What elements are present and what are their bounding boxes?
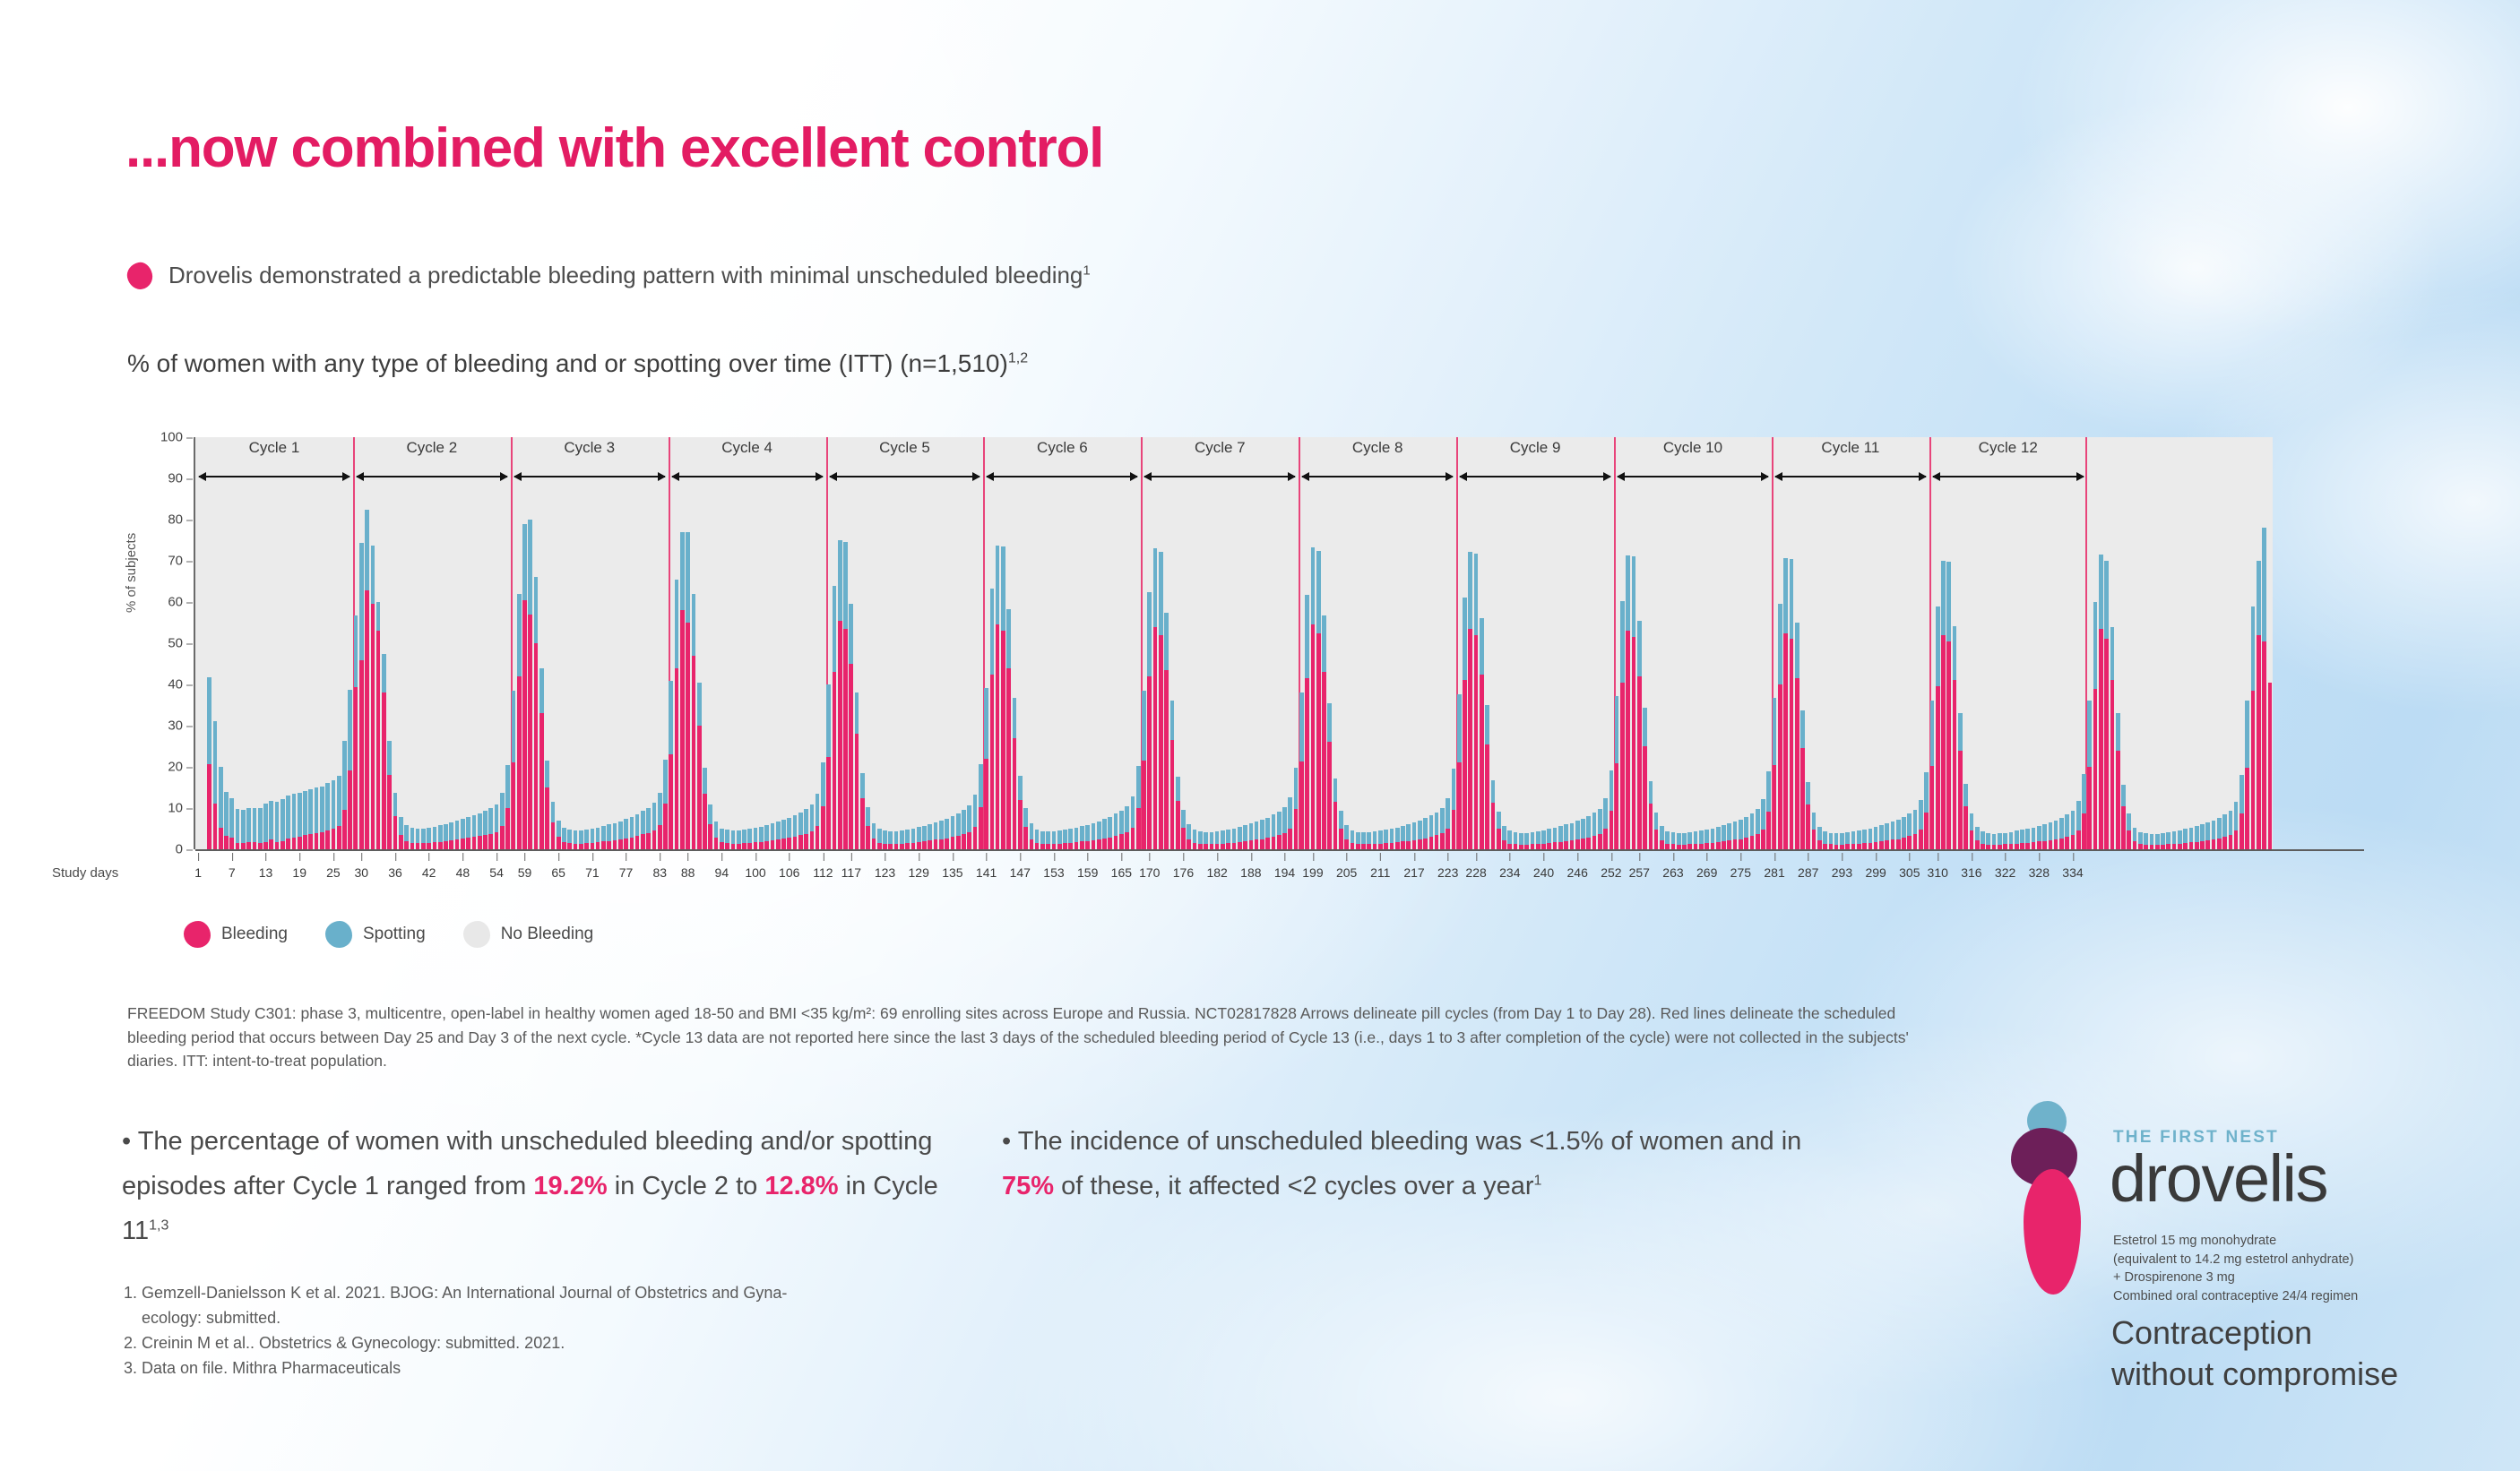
spotting-segment bbox=[495, 804, 499, 831]
table-row bbox=[1677, 437, 1681, 849]
x-tick-252: 252 bbox=[1601, 865, 1621, 880]
spotting-segment bbox=[1773, 698, 1777, 765]
table-row bbox=[1187, 437, 1191, 849]
bleeding-segment bbox=[607, 841, 611, 849]
bullet-blob-icon bbox=[125, 260, 155, 291]
table-row bbox=[1373, 437, 1377, 849]
spotting-segment bbox=[1586, 816, 1591, 838]
spotting-segment bbox=[787, 818, 791, 839]
table-row bbox=[630, 437, 634, 849]
table-row bbox=[1136, 437, 1141, 849]
spotting-segment bbox=[1615, 696, 1619, 763]
spotting-segment bbox=[1902, 817, 1906, 838]
table-row bbox=[584, 437, 589, 849]
spotting-segment bbox=[1812, 813, 1817, 830]
table-row bbox=[292, 437, 297, 849]
bleeding-segment bbox=[427, 843, 431, 849]
table-row bbox=[1514, 437, 1518, 849]
bleeding-segment bbox=[928, 840, 932, 849]
bleeding-segment bbox=[1896, 839, 1901, 850]
spotting-segment bbox=[708, 804, 712, 824]
spotting-segment bbox=[731, 830, 736, 843]
spotting-segment bbox=[427, 828, 431, 843]
bleeding-segment bbox=[747, 843, 752, 849]
table-row bbox=[2222, 437, 2227, 849]
spotting-segment bbox=[1446, 798, 1450, 830]
table-row bbox=[1440, 437, 1445, 849]
table-row bbox=[1102, 437, 1107, 849]
table-row bbox=[934, 437, 938, 849]
bleeding-segment bbox=[1282, 833, 1287, 849]
table-row bbox=[1401, 437, 1405, 849]
spotting-segment bbox=[444, 824, 448, 841]
legend-label: No Bleeding bbox=[501, 925, 594, 944]
bleeding-segment bbox=[1351, 843, 1355, 849]
bleeding-segment bbox=[1164, 670, 1169, 849]
table-row bbox=[1817, 437, 1822, 849]
table-row bbox=[675, 437, 679, 849]
bleeding-segment bbox=[663, 804, 668, 849]
spotting-segment bbox=[1834, 833, 1839, 845]
spotting-segment bbox=[759, 827, 764, 842]
spotting-segment bbox=[1986, 833, 1990, 845]
table-row bbox=[1344, 437, 1349, 849]
table-row bbox=[1981, 437, 1985, 849]
bleeding-segment bbox=[1806, 804, 1810, 849]
table-row bbox=[1924, 437, 1929, 849]
table-row bbox=[951, 437, 955, 849]
table-row bbox=[945, 437, 949, 849]
spotting-segment bbox=[1255, 822, 1259, 839]
table-row bbox=[1575, 437, 1580, 849]
table-row bbox=[1108, 437, 1112, 849]
table-row bbox=[1035, 437, 1040, 849]
table-row bbox=[1756, 437, 1760, 849]
table-row bbox=[990, 437, 995, 849]
table-row bbox=[1474, 437, 1479, 849]
logo-composition-text: Estetrol 15 mg monohydrate(equivalent to… bbox=[2113, 1232, 2358, 1305]
spotting-segment bbox=[455, 821, 460, 839]
spotting-segment bbox=[1485, 705, 1489, 744]
bleeding-segment bbox=[1327, 742, 1332, 849]
table-row bbox=[1868, 437, 1873, 849]
spotting-segment bbox=[551, 802, 556, 822]
logo-composition-line: (equivalent to 14.2 mg estetrol anhydrat… bbox=[2113, 1251, 2358, 1269]
table-row bbox=[2020, 437, 2024, 849]
table-row bbox=[410, 437, 415, 849]
bleeding-segment bbox=[449, 840, 453, 849]
y-tick-50: 50 bbox=[147, 636, 183, 651]
x-tick-88: 88 bbox=[681, 865, 695, 880]
spotting-segment bbox=[557, 821, 561, 837]
table-row bbox=[2234, 437, 2239, 849]
spotting-segment bbox=[2200, 824, 2205, 840]
table-row bbox=[2032, 437, 2036, 849]
spotting-segment bbox=[793, 815, 798, 837]
spotting-segment bbox=[1272, 814, 1276, 836]
y-tick-70: 70 bbox=[147, 554, 183, 569]
bleeding-segment bbox=[1620, 683, 1625, 849]
table-row bbox=[1874, 437, 1878, 849]
spotting-segment bbox=[686, 532, 690, 623]
spotting-segment bbox=[1699, 830, 1704, 843]
table-row bbox=[905, 437, 910, 849]
spotting-segment bbox=[382, 654, 386, 693]
spotting-segment bbox=[754, 828, 758, 842]
spotting-segment bbox=[1992, 834, 1997, 845]
spotting-segment bbox=[308, 789, 313, 834]
bleeding-segment bbox=[1080, 841, 1084, 849]
table-row bbox=[551, 437, 556, 849]
bleeding-segment bbox=[1316, 633, 1321, 850]
spotting-segment bbox=[1373, 831, 1377, 844]
spotting-segment bbox=[1930, 701, 1935, 767]
spotting-segment bbox=[2071, 811, 2076, 835]
table-row bbox=[1384, 437, 1388, 849]
table-row bbox=[495, 437, 499, 849]
table-row bbox=[1170, 437, 1175, 849]
x-tick-223: 223 bbox=[1437, 865, 1458, 880]
bleeding-segment bbox=[1159, 635, 1163, 849]
table-row bbox=[1277, 437, 1282, 849]
bleeding-segment bbox=[348, 770, 352, 849]
table-row bbox=[703, 437, 707, 849]
table-row bbox=[1221, 437, 1225, 849]
bleeding-segment bbox=[2054, 839, 2058, 849]
spotting-segment bbox=[337, 776, 341, 826]
spotting-segment bbox=[1181, 810, 1186, 828]
table-row bbox=[1153, 437, 1158, 849]
spotting-segment bbox=[1294, 768, 1299, 809]
table-row bbox=[455, 437, 460, 849]
spotting-segment bbox=[1756, 809, 1760, 834]
table-row bbox=[557, 437, 561, 849]
bleeding-segment bbox=[990, 675, 995, 850]
table-row bbox=[539, 437, 544, 849]
bleeding-segment bbox=[1817, 840, 1822, 849]
bleeding-segment bbox=[1423, 839, 1428, 849]
x-tick-65: 65 bbox=[551, 865, 565, 880]
bleeding-segment bbox=[213, 804, 218, 849]
bleeding-segment bbox=[1446, 829, 1450, 849]
table-row bbox=[320, 437, 324, 849]
x-tick-77: 77 bbox=[619, 865, 634, 880]
bleeding-segment bbox=[1412, 840, 1417, 849]
bleeding-segment bbox=[1299, 761, 1304, 849]
bleeding-segment bbox=[821, 806, 825, 849]
bleeding-segment bbox=[1711, 843, 1715, 849]
spotting-segment bbox=[517, 594, 522, 676]
table-row bbox=[624, 437, 628, 849]
table-row bbox=[816, 437, 820, 849]
spotting-segment bbox=[1260, 820, 1264, 839]
spotting-segment bbox=[1790, 559, 1794, 639]
spotting-segment bbox=[956, 813, 961, 836]
x-tick-281: 281 bbox=[1764, 865, 1784, 880]
table-row bbox=[512, 437, 516, 849]
y-tick-10: 10 bbox=[147, 801, 183, 816]
spotting-segment bbox=[354, 615, 358, 688]
spotting-segment bbox=[2217, 818, 2222, 839]
table-row bbox=[1524, 437, 1529, 849]
highlight-value-19: 19.2% bbox=[533, 1172, 607, 1200]
table-row bbox=[1603, 437, 1608, 849]
bleeding-segment bbox=[219, 828, 223, 849]
spotting-segment bbox=[1783, 558, 1788, 633]
bleeding-segment bbox=[393, 816, 398, 849]
spotting-segment bbox=[1204, 832, 1208, 844]
spotting-segment bbox=[2003, 833, 2007, 845]
spotting-segment bbox=[692, 594, 696, 656]
table-row bbox=[764, 437, 769, 849]
bleeding-segment bbox=[2229, 835, 2233, 849]
table-row bbox=[567, 437, 572, 849]
bleeding-segment bbox=[1575, 839, 1580, 849]
table-row bbox=[393, 437, 398, 849]
bleeding-segment bbox=[1795, 678, 1799, 849]
table-row bbox=[1367, 437, 1371, 849]
spotting-segment bbox=[1232, 829, 1237, 843]
legend-label: Spotting bbox=[363, 925, 426, 944]
bleeding-segment bbox=[2127, 830, 2131, 849]
spotting-segment bbox=[1085, 825, 1090, 841]
bleeding-segment bbox=[1193, 843, 1197, 849]
table-row bbox=[472, 437, 477, 849]
table-row bbox=[1615, 437, 1619, 849]
spotting-segment bbox=[325, 783, 330, 830]
table-row bbox=[1586, 437, 1591, 849]
table-row bbox=[2229, 437, 2233, 849]
bleeding-segment bbox=[399, 835, 403, 849]
spotting-segment bbox=[567, 830, 572, 843]
bleeding-segment bbox=[2093, 689, 2098, 849]
bleeding-segment bbox=[1654, 830, 1659, 849]
bleeding-segment bbox=[354, 687, 358, 849]
x-tick-71: 71 bbox=[585, 865, 600, 880]
bleeding-segment bbox=[1586, 838, 1591, 849]
spotting-segment bbox=[1570, 823, 1575, 840]
spotting-segment bbox=[663, 760, 668, 804]
spotting-segment bbox=[877, 829, 882, 842]
bleeding-segment bbox=[1936, 686, 1940, 849]
table-row bbox=[1610, 437, 1614, 849]
table-row bbox=[1193, 437, 1197, 849]
spotting-segment bbox=[894, 831, 899, 844]
table-row bbox=[1694, 437, 1698, 849]
bleeding-segment bbox=[258, 843, 263, 849]
table-row bbox=[1806, 437, 1810, 849]
bleeding-segment bbox=[1649, 804, 1653, 849]
bleeding-segment bbox=[1238, 842, 1242, 849]
nest-drop-shape bbox=[2024, 1169, 2081, 1295]
bleeding-segment bbox=[505, 808, 510, 849]
spotting-segment bbox=[911, 829, 916, 843]
table-row bbox=[1491, 437, 1496, 849]
spotting-segment bbox=[1102, 819, 1107, 839]
bleeding-segment bbox=[742, 843, 747, 849]
bleeding-segment bbox=[1142, 761, 1146, 849]
bleeding-segment bbox=[939, 839, 944, 850]
table-row bbox=[1288, 437, 1292, 849]
bleeding-segment bbox=[725, 843, 729, 849]
x-tick-246: 246 bbox=[1567, 865, 1588, 880]
bleeding-segment bbox=[720, 842, 724, 849]
bleeding-segment bbox=[1868, 843, 1873, 849]
table-row bbox=[680, 437, 685, 849]
spotting-segment bbox=[1170, 701, 1175, 740]
table-row bbox=[2166, 437, 2170, 849]
table-row bbox=[652, 437, 657, 849]
spotting-segment bbox=[764, 825, 769, 841]
table-row bbox=[1845, 437, 1850, 849]
bleeding-segment bbox=[1249, 840, 1254, 849]
spotting-segment bbox=[1514, 832, 1518, 844]
table-row bbox=[1418, 437, 1422, 849]
logo-composition-line: Estetrol 15 mg monohydrate bbox=[2113, 1232, 2358, 1251]
spotting-segment bbox=[1423, 818, 1428, 839]
table-row bbox=[332, 437, 336, 849]
table-row bbox=[1649, 437, 1653, 849]
spotting-segment bbox=[996, 546, 1000, 625]
table-row bbox=[478, 437, 482, 849]
table-row bbox=[444, 437, 448, 849]
table-row bbox=[1834, 437, 1839, 849]
bleeding-segment bbox=[1800, 748, 1805, 849]
table-row bbox=[325, 437, 330, 849]
table-row bbox=[421, 437, 426, 849]
spotting-segment bbox=[2189, 828, 2194, 843]
bleeding-segment bbox=[1790, 639, 1794, 849]
table-row bbox=[2189, 437, 2194, 849]
table-row bbox=[1913, 437, 1918, 849]
table-row bbox=[1215, 437, 1220, 849]
bleeding-segment bbox=[1001, 631, 1005, 849]
spotting-segment bbox=[1524, 833, 1529, 845]
spotting-segment bbox=[2257, 561, 2261, 635]
table-row bbox=[697, 437, 702, 849]
table-row bbox=[1378, 437, 1383, 849]
spotting-segment bbox=[1468, 552, 1472, 629]
spotting-segment bbox=[1581, 819, 1585, 839]
x-tick-135: 135 bbox=[942, 865, 962, 880]
spotting-segment bbox=[2251, 606, 2256, 691]
table-row bbox=[466, 437, 470, 849]
x-tick-310: 310 bbox=[1928, 865, 1948, 880]
x-tick-234: 234 bbox=[1499, 865, 1520, 880]
legend-swatch-icon bbox=[463, 921, 490, 948]
table-row bbox=[798, 437, 803, 849]
bleeding-segment bbox=[2200, 841, 2205, 849]
spotting-segment bbox=[2082, 774, 2086, 813]
spotting-segment bbox=[2020, 830, 2024, 843]
table-row bbox=[315, 437, 319, 849]
reference-2: 2. Creinin M et al.. Obstetrics & Gyneco… bbox=[124, 1331, 787, 1356]
table-row bbox=[928, 437, 932, 849]
spotting-segment bbox=[934, 822, 938, 840]
table-row bbox=[1783, 437, 1788, 849]
spotting-segment bbox=[574, 830, 578, 844]
spotting-segment bbox=[2245, 701, 2249, 768]
nest-mark-icon bbox=[2007, 1101, 2090, 1298]
bleeding-segment bbox=[1418, 839, 1422, 849]
spotting-segment bbox=[1327, 703, 1332, 743]
spotting-segment bbox=[591, 829, 595, 843]
spotting-segment bbox=[601, 826, 606, 841]
x-tick-165: 165 bbox=[1111, 865, 1132, 880]
bleeding-segment bbox=[2212, 839, 2216, 849]
spotting-segment bbox=[1795, 623, 1799, 678]
table-row bbox=[1930, 437, 1935, 849]
table-row bbox=[1795, 437, 1799, 849]
table-row bbox=[2116, 437, 2120, 849]
bleeding-segment bbox=[2121, 806, 2126, 849]
bleeding-segment bbox=[2037, 841, 2041, 849]
table-row bbox=[1851, 437, 1856, 849]
bleeding-segment bbox=[1778, 684, 1782, 849]
table-row bbox=[427, 437, 431, 849]
spotting-segment bbox=[1452, 769, 1456, 810]
spotting-segment bbox=[1879, 825, 1884, 841]
table-row bbox=[308, 437, 313, 849]
table-row bbox=[900, 437, 904, 849]
table-row bbox=[461, 437, 465, 849]
bleeding-segment bbox=[1147, 676, 1152, 849]
spotting-segment bbox=[658, 793, 662, 826]
table-row bbox=[843, 437, 848, 849]
bleeding-segment bbox=[1131, 828, 1135, 849]
table-row bbox=[2178, 437, 2182, 849]
spotting-segment bbox=[2009, 832, 2014, 844]
bleeding-segment bbox=[1344, 839, 1349, 849]
table-row bbox=[1131, 437, 1135, 849]
spotting-segment bbox=[461, 819, 465, 839]
bleeding-segment bbox=[771, 840, 775, 849]
spotting-segment bbox=[922, 826, 927, 841]
spotting-segment bbox=[2076, 801, 2081, 830]
spotting-segment bbox=[1536, 831, 1540, 844]
table-row bbox=[607, 437, 611, 849]
y-tick-80: 80 bbox=[147, 512, 183, 528]
spotting-segment bbox=[596, 828, 600, 843]
table-row bbox=[1558, 437, 1563, 849]
bleeding-segment bbox=[2234, 830, 2239, 849]
spotting-segment bbox=[821, 762, 825, 806]
spotting-segment bbox=[1750, 813, 1755, 836]
bleeding-segment bbox=[1733, 839, 1738, 849]
table-row bbox=[253, 437, 257, 849]
spotting-segment bbox=[387, 741, 392, 776]
bleeding-segment bbox=[630, 838, 634, 849]
table-row bbox=[1829, 437, 1834, 849]
logo-brand-name: drovelis bbox=[2110, 1140, 2327, 1217]
x-tick-228: 228 bbox=[1465, 865, 1486, 880]
bleeding-segment bbox=[1311, 624, 1316, 849]
bleeding-segment bbox=[365, 590, 369, 849]
spotting-segment bbox=[2015, 830, 2019, 843]
y-tick-100: 100 bbox=[147, 430, 183, 445]
table-row bbox=[1480, 437, 1484, 849]
spotting-segment bbox=[1176, 777, 1180, 801]
table-row bbox=[488, 437, 493, 849]
spotting-segment bbox=[855, 692, 859, 734]
spotting-segment bbox=[1114, 813, 1118, 836]
spotting-segment bbox=[1547, 829, 1551, 843]
bleeding-segment bbox=[866, 826, 870, 849]
spotting-segment bbox=[488, 808, 493, 834]
spotting-segment bbox=[2093, 602, 2098, 689]
bleeding-segment bbox=[2116, 751, 2120, 849]
x-tick-299: 299 bbox=[1865, 865, 1886, 880]
